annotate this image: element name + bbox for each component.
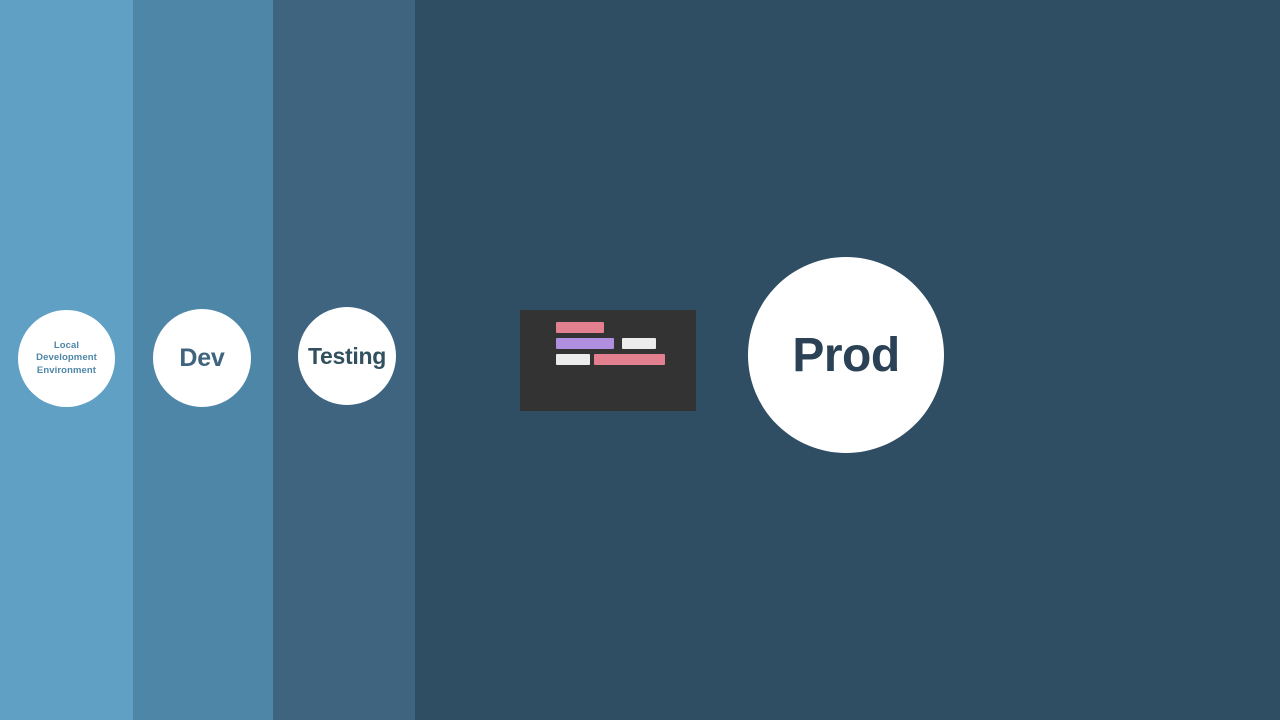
- stage-label-dev: Dev: [179, 344, 224, 373]
- code-token-2-1: [556, 338, 614, 349]
- stage-circle-testing[interactable]: Testing: [298, 307, 396, 405]
- stage-label-local: Local Development Environment: [30, 340, 103, 378]
- stage-circle-dev[interactable]: Dev: [153, 309, 251, 407]
- deployment-pipeline-scene: Local Development Environment Dev Testin…: [0, 0, 1280, 720]
- code-token-2-2: [622, 338, 656, 349]
- stage-circle-prod[interactable]: Prod: [748, 257, 944, 453]
- code-editor-panel[interactable]: [520, 310, 696, 411]
- stage-label-prod: Prod: [792, 328, 899, 383]
- stage-circle-local[interactable]: Local Development Environment: [18, 310, 115, 407]
- stage-label-testing: Testing: [308, 343, 386, 370]
- code-token-3-2: [594, 354, 665, 365]
- code-token-3-1: [556, 354, 590, 365]
- code-token-1-1: [556, 322, 604, 333]
